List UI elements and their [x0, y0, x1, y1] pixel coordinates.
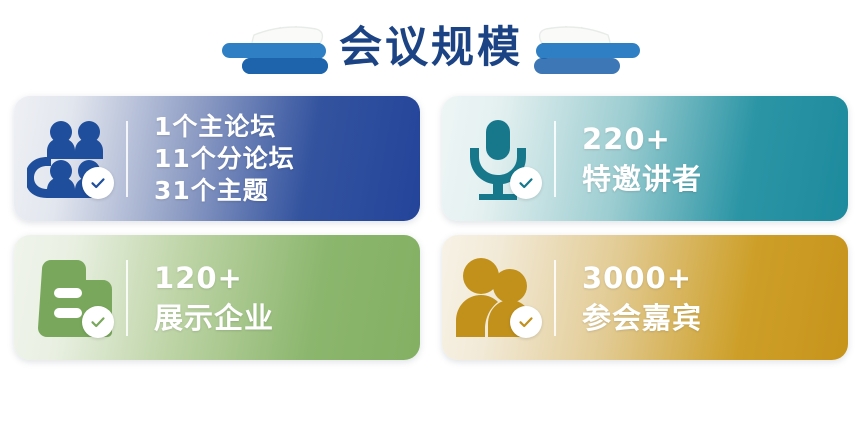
- check-badge: [82, 167, 114, 199]
- stat-card-text: 220+ 特邀讲者: [582, 119, 702, 199]
- card-divider: [126, 121, 128, 197]
- stat-card-text: 1个主论坛 11个分论坛 31个主题: [154, 111, 295, 207]
- stat-card-text: 3000+ 参会嘉宾: [582, 258, 702, 338]
- card-divider: [554, 121, 556, 197]
- stat-card-text: 120+ 展示企业: [154, 258, 274, 338]
- stats-card-grid: 1个主论坛 11个分论坛 31个主题 220+ 特邀讲者: [0, 96, 862, 360]
- stat-line: 展示企业: [154, 298, 274, 338]
- stat-card-speakers[interactable]: 220+ 特邀讲者: [442, 96, 848, 221]
- stat-line: 220+: [582, 119, 702, 159]
- cloud-ornament-right: [507, 13, 642, 83]
- stat-line: 120+: [154, 258, 274, 298]
- icon-container: [442, 235, 554, 360]
- stat-card-attendees[interactable]: 3000+ 参会嘉宾: [442, 235, 848, 360]
- icon-container: [442, 96, 554, 221]
- check-badge: [82, 306, 114, 338]
- cloud-ornament-left: [220, 13, 355, 83]
- check-badge: [510, 306, 542, 338]
- stat-line: 参会嘉宾: [582, 298, 702, 338]
- check-badge: [510, 167, 542, 199]
- stat-card-exhibitors[interactable]: 120+ 展示企业: [14, 235, 420, 360]
- stat-card-forums[interactable]: 1个主论坛 11个分论坛 31个主题: [14, 96, 420, 221]
- page-header: 会议规模: [0, 0, 862, 96]
- card-divider: [554, 260, 556, 336]
- stat-line: 11个分论坛: [154, 143, 295, 175]
- stat-line: 3000+: [582, 258, 702, 298]
- card-divider: [126, 260, 128, 336]
- stat-line: 特邀讲者: [582, 159, 702, 199]
- stat-line: 31个主题: [154, 175, 295, 207]
- page-title: 会议规模: [339, 27, 523, 70]
- icon-container: [14, 96, 126, 221]
- stat-line: 1个主论坛: [154, 111, 295, 143]
- icon-container: [14, 235, 126, 360]
